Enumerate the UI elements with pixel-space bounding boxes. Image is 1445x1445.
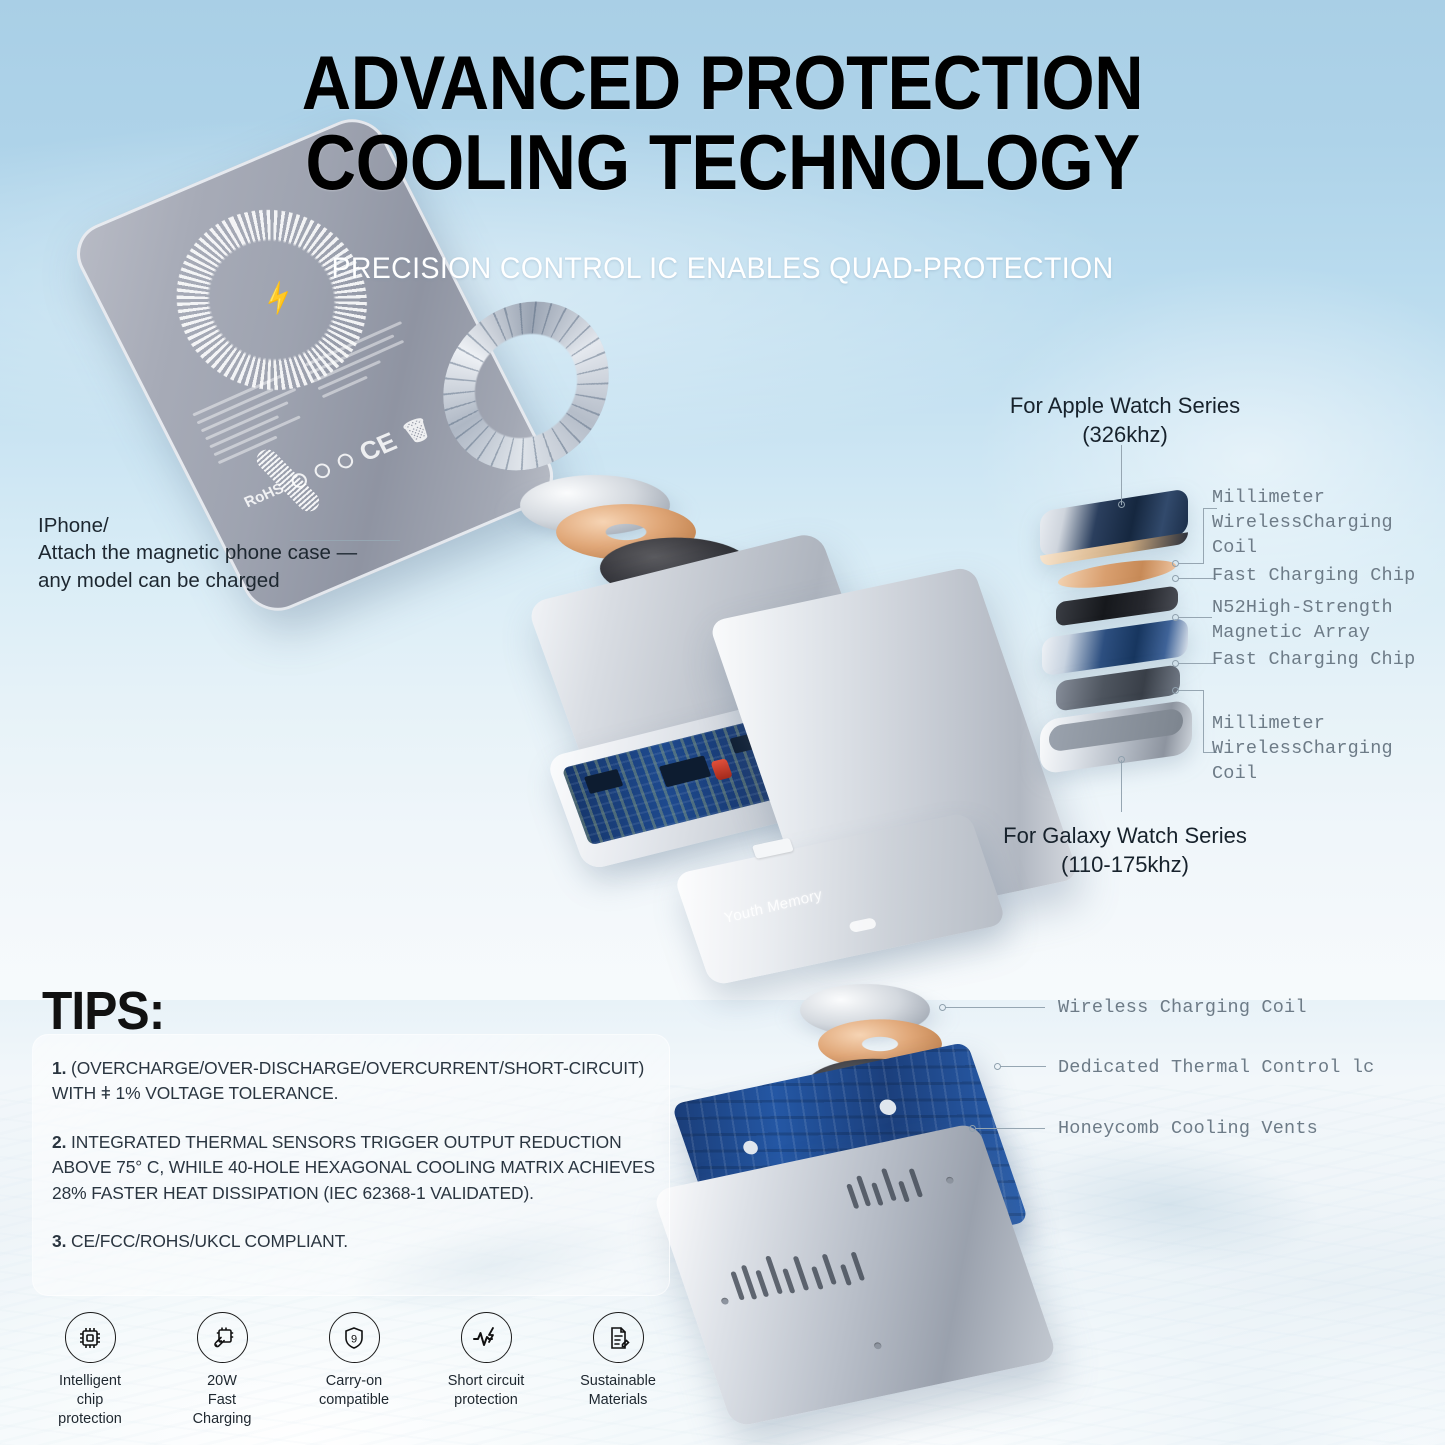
- svg-text:9: 9: [351, 1333, 357, 1345]
- pulse-bolt-icon: [461, 1312, 512, 1363]
- shield-9-icon: 9: [329, 1312, 380, 1363]
- wrench-chip-icon: [197, 1312, 248, 1363]
- module-label-chip-lower: Fast Charging Chip: [1212, 648, 1415, 673]
- title-line-1: ADVANCED PROTECTION: [72, 48, 1373, 121]
- feature-label-line1: Carry-on: [310, 1372, 398, 1391]
- galaxy-watch-header-line1: For Galaxy Watch Series: [1000, 822, 1250, 851]
- feature-item-carry-on: 9 Carry-on compatible: [310, 1312, 398, 1429]
- iphone-callout-line1: IPhone/: [38, 512, 398, 539]
- chip-icon: [65, 1312, 116, 1363]
- module-label-coil-top: Millimeter WirelessCharging Coil: [1212, 486, 1445, 561]
- galaxy-watch-header-line2: (110-175khz): [1000, 851, 1250, 880]
- tip-number: 3.: [52, 1231, 66, 1251]
- module-label-coil-bottom: Millimeter WirelessCharging Coil: [1212, 712, 1445, 787]
- feature-label-line2: protection: [46, 1410, 134, 1429]
- feature-row: Intelligent chip protection 20W Fast Cha…: [46, 1312, 662, 1429]
- tip-number: 2.: [52, 1132, 66, 1152]
- feature-label-line1: Intelligent chip: [46, 1372, 134, 1410]
- tip-item: 3. CE/FCC/ROHS/UKCL COMPLIANT.: [52, 1229, 660, 1254]
- subtitle: PRECISION CONTROL IC ENABLES QUAD-PROTEC…: [36, 252, 1409, 286]
- tips-title: TIPS:: [42, 980, 164, 1042]
- document-edit-icon: [593, 1312, 644, 1363]
- iphone-callout: IPhone/ Attach the magnetic phone case —…: [38, 512, 398, 594]
- tip-text: INTEGRATED THERMAL SENSORS TRIGGER OUTPU…: [52, 1132, 655, 1203]
- apple-watch-header: For Apple Watch Series (326khz): [1000, 392, 1250, 449]
- feature-label-line2: Materials: [574, 1391, 662, 1410]
- tips-list: 1. (OVERCHARGE/OVER-DISCHARGE/OVERCURREN…: [52, 1056, 660, 1277]
- title-line-2: COOLING TECHNOLOGY: [72, 125, 1373, 200]
- apple-watch-header-line1: For Apple Watch Series: [1000, 392, 1250, 421]
- iphone-callout-line2: Attach the magnetic phone case —: [38, 539, 398, 566]
- feature-label-line2: Fast Charging: [178, 1391, 266, 1429]
- label-thermal-control-ic: Dedicated Thermal Control lc: [1058, 1056, 1374, 1081]
- label-wireless-charging-coil: Wireless Charging Coil: [1058, 996, 1307, 1021]
- feature-item-sustainable: Sustainable Materials: [574, 1312, 662, 1429]
- feature-item-short-circuit: Short circuit protection: [442, 1312, 530, 1429]
- feature-item-intelligent-chip: Intelligent chip protection: [46, 1312, 134, 1429]
- feature-label-line1: Short circuit: [442, 1372, 530, 1391]
- tip-text: CE/FCC/ROHS/UKCL COMPLIANT.: [71, 1231, 348, 1251]
- label-honeycomb-vents: Honeycomb Cooling Vents: [1058, 1117, 1318, 1142]
- feature-label-line1: Sustainable: [574, 1372, 662, 1391]
- feature-label-line1: 20W: [178, 1372, 266, 1391]
- page-title: ADVANCED PROTECTION COOLING TECHNOLOGY: [0, 48, 1445, 200]
- tip-item: 1. (OVERCHARGE/OVER-DISCHARGE/OVERCURREN…: [52, 1056, 660, 1107]
- tip-text: (OVERCHARGE/OVER-DISCHARGE/OVERCURRENT/S…: [52, 1058, 644, 1103]
- tip-number: 1.: [52, 1058, 66, 1078]
- galaxy-watch-header: For Galaxy Watch Series (110-175khz): [1000, 822, 1250, 879]
- apple-watch-header-line2: (326khz): [1000, 421, 1250, 450]
- tip-item: 2. INTEGRATED THERMAL SENSORS TRIGGER OU…: [52, 1130, 660, 1206]
- module-label-magnet-array: N52High-Strength Magnetic Array: [1212, 596, 1393, 646]
- iphone-callout-line3: any model can be charged: [38, 567, 398, 594]
- feature-label-line2: protection: [442, 1391, 530, 1410]
- feature-item-fast-charging: 20W Fast Charging: [178, 1312, 266, 1429]
- module-label-chip-upper: Fast Charging Chip: [1212, 564, 1415, 589]
- feature-label-line2: compatible: [310, 1391, 398, 1410]
